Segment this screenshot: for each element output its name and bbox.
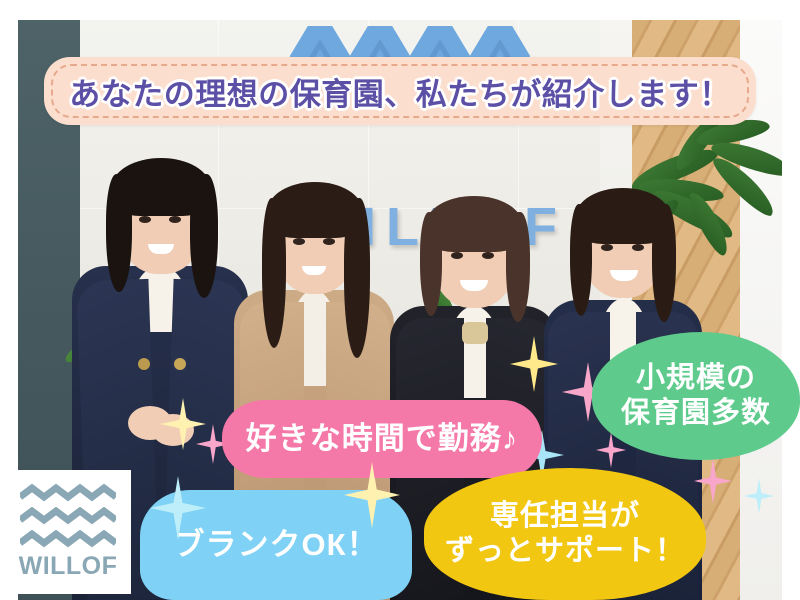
zigzag-row-icon — [20, 530, 116, 548]
headline-banner: あなたの理想の保育園、私たちが紹介します！ — [44, 57, 756, 125]
zigzag-row-icon — [20, 507, 116, 525]
bubble-dedicated-support: 専任担当が ずっとサポート！ — [424, 468, 706, 600]
zigzag-row-icon — [20, 484, 116, 502]
bubble-flexible-hours: 好きな時間で勤務♪ — [222, 400, 542, 478]
bubble-line: 好きな時間で勤務♪ — [246, 420, 519, 458]
top-white-margin — [0, 0, 800, 20]
bubble-line: 専任担当が — [445, 499, 685, 534]
willof-logo: WILLOF — [5, 470, 131, 594]
bubble-small-nursery: 小規模の 保育園多数 — [592, 332, 800, 460]
bubble-line: ブランクОК！ — [173, 526, 378, 564]
logo-wordmark: WILLOF — [19, 552, 118, 581]
bubble-line: 小規模の — [621, 361, 771, 396]
logo-zigzag-mark — [20, 484, 116, 548]
bubble-line: ずっとサポート！ — [445, 534, 685, 569]
bubble-line: 保育園多数 — [621, 396, 771, 431]
promo-banner-image: WILLOF — [0, 0, 800, 600]
headline-text: あなたの理想の保育園、私たちが紹介します！ — [44, 57, 756, 125]
